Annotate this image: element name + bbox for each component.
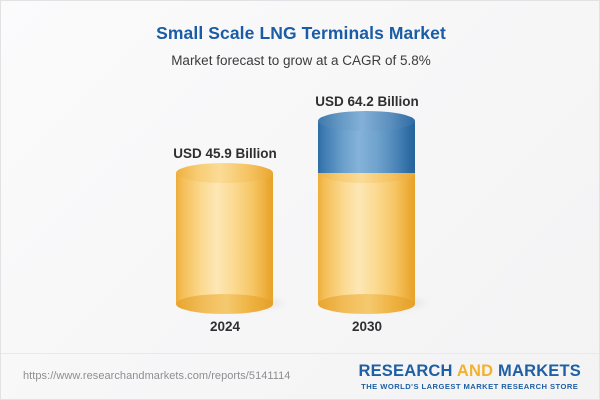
- cylinder-bottom-cap: [176, 294, 273, 314]
- logo-word-research: RESEARCH: [358, 362, 452, 380]
- report-url[interactable]: https://www.researchandmarkets.com/repor…: [23, 370, 290, 382]
- footer: https://www.researchandmarkets.com/repor…: [1, 353, 600, 399]
- category-label-2024: 2024: [155, 319, 295, 334]
- cylinder-body: [318, 173, 415, 304]
- logo-wordmark: RESEARCH AND MARKETS: [358, 362, 581, 380]
- cylinder-2024[interactable]: [176, 173, 273, 304]
- bar-value-label-2024: USD 45.9 Billion: [155, 146, 295, 161]
- category-label-2030: 2030: [297, 319, 437, 334]
- cylinder-top-cap: [318, 111, 415, 131]
- logo-word-markets: MARKETS: [498, 362, 581, 380]
- cylinder-segment-base-2030: [318, 173, 415, 304]
- logo-word-and: AND: [457, 362, 493, 380]
- chart-plot-area: USD 45.9 Billion 2024 USD 64.2 Billion: [1, 1, 600, 353]
- logo-tagline: THE WORLD'S LARGEST MARKET RESEARCH STOR…: [358, 382, 581, 391]
- cylinder-body: [176, 173, 273, 304]
- bar-group-2030: USD 64.2 Billion 2030: [297, 1, 437, 353]
- bar-group-2024: USD 45.9 Billion 2024: [155, 1, 295, 353]
- cylinder-2030[interactable]: [318, 121, 415, 304]
- cylinder-bottom-cap: [318, 294, 415, 314]
- cylinder-top-cap: [176, 163, 273, 183]
- infographic-card: Small Scale LNG Terminals Market Market …: [0, 0, 600, 400]
- cylinder-segment-growth-2030: [318, 121, 415, 173]
- brand-logo[interactable]: RESEARCH AND MARKETS THE WORLD'S LARGEST…: [358, 362, 581, 391]
- bar-value-label-2030: USD 64.2 Billion: [297, 94, 437, 109]
- cylinder-segment-base-2024: [176, 173, 273, 304]
